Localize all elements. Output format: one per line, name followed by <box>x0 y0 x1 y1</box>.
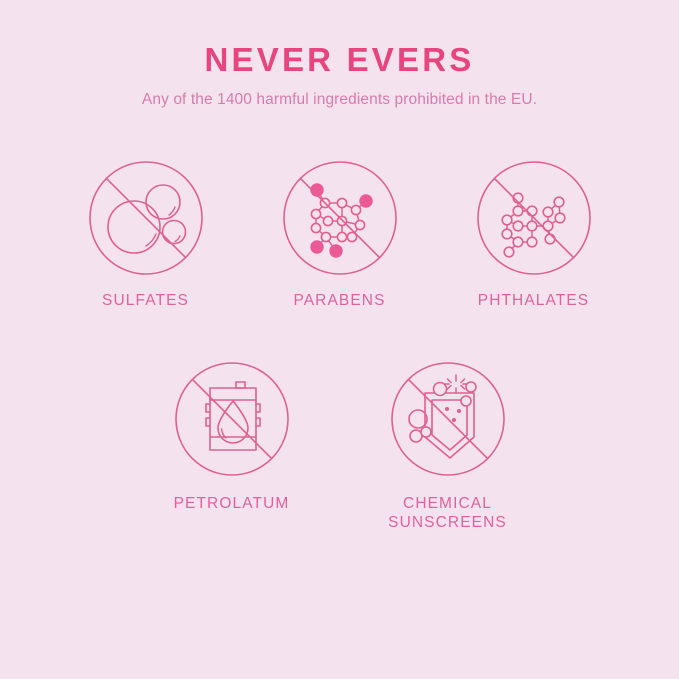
grid-item-label: SULFATES <box>102 292 189 311</box>
grid-item-petrolatum: PETROLATUM <box>157 359 307 533</box>
grid-item-parabens: PARABENS <box>277 158 403 311</box>
no-sunscreen-shield-icon <box>388 359 508 479</box>
no-molecule-filled-icon <box>280 158 400 278</box>
never-evers-infographic: NEVER EVERS Any of the 1400 harmful ingr… <box>0 0 679 679</box>
grid-item-label: PETROLATUM <box>174 495 290 514</box>
grid-item-phthalates: PHTHALATES <box>471 158 597 311</box>
grid-row-2: PETROLATUM <box>0 359 679 533</box>
grid-item-chemical-sunscreens: CHEMICAL SUNSCREENS <box>373 359 523 533</box>
grid-item-label: PHTHALATES <box>478 292 590 311</box>
no-oil-barrel-icon <box>172 359 292 479</box>
no-bubbles-icon <box>86 158 206 278</box>
grid-item-sulfates: SULFATES <box>83 158 209 311</box>
page-subtitle: Any of the 1400 harmful ingredients proh… <box>0 90 679 110</box>
header: NEVER EVERS Any of the 1400 harmful ingr… <box>0 0 679 110</box>
ingredient-grid: SULFATES <box>0 158 679 533</box>
page-title: NEVER EVERS <box>0 42 679 78</box>
grid-item-label: PARABENS <box>293 292 385 311</box>
grid-row-1: SULFATES <box>0 158 679 311</box>
no-molecule-hollow-icon <box>474 158 594 278</box>
grid-item-label: CHEMICAL SUNSCREENS <box>388 495 507 533</box>
